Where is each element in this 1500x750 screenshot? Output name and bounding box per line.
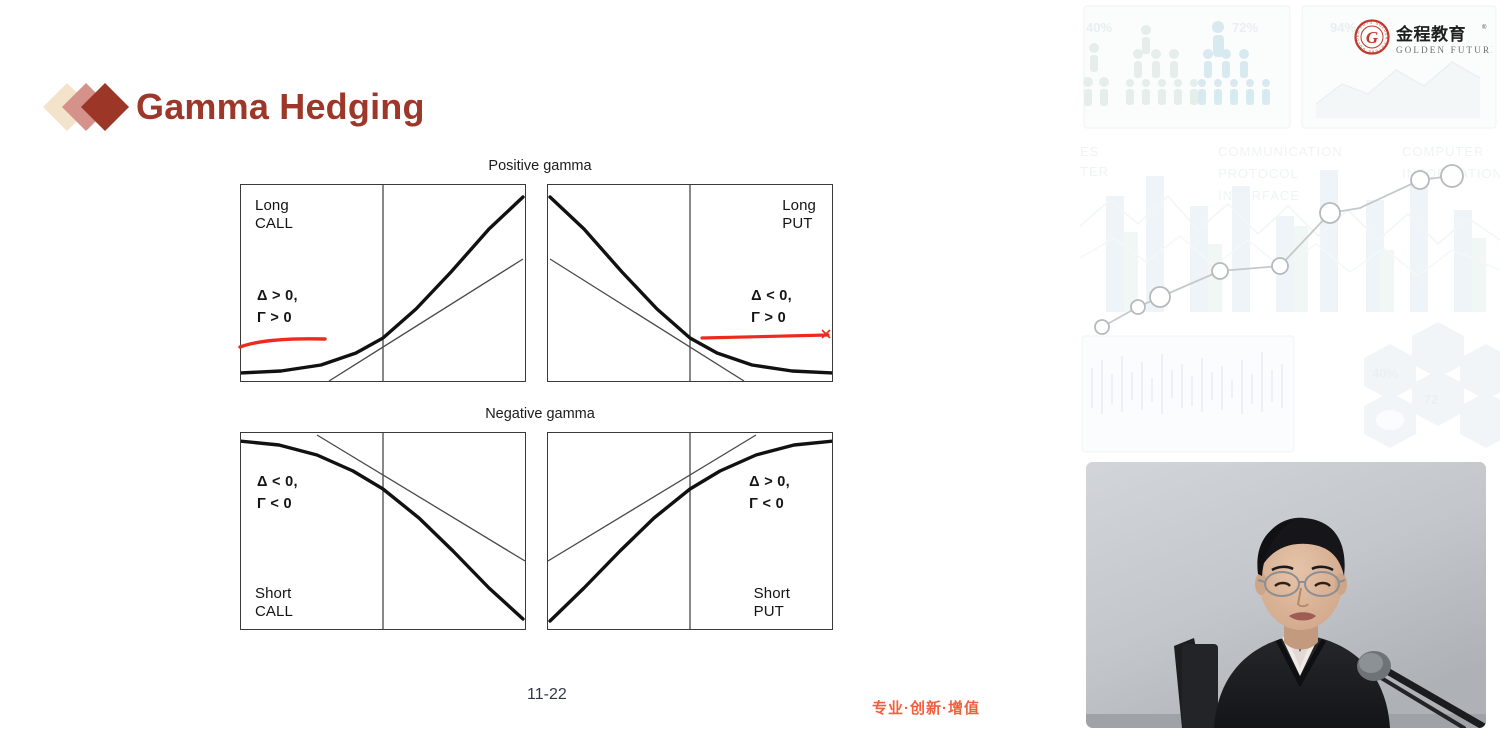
gamma-figure: Positive gamma Long CALL Δ > 0, Γ > 0 bbox=[240, 158, 840, 636]
slide-title-block: Gamma Hedging bbox=[50, 78, 425, 136]
red-annotation-underline-long-put bbox=[698, 327, 834, 345]
right-side-panel: 40% 72% 94% ES TER COMMUNICATION PROTOCO… bbox=[1080, 0, 1500, 750]
logo-seal-icon: G GOLDEN FUTURE GOLDEN FUTURE bbox=[1352, 16, 1389, 54]
svg-text:40%: 40% bbox=[1086, 20, 1112, 35]
panel-position-label-short-put: Short PUT bbox=[754, 585, 790, 622]
logo-english-name: GOLDEN FUTURE bbox=[1396, 45, 1492, 55]
panel-greeks-short-put: Δ > 0, Γ < 0 bbox=[749, 471, 790, 516]
row-caption-negative: Negative gamma bbox=[240, 406, 840, 422]
logo-chinese-name: 金程教育 bbox=[1395, 24, 1466, 45]
svg-text:PROTOCOL: PROTOCOL bbox=[1218, 166, 1299, 181]
title-diamond-decoration bbox=[50, 81, 128, 133]
panel-greeks-long-put: Δ < 0, Γ > 0 bbox=[751, 285, 792, 330]
page-number: 11-22 bbox=[527, 686, 567, 704]
slide-canvas: Gamma Hedging Positive gamma Long CALL Δ… bbox=[0, 0, 1080, 750]
panel-short-put: Δ > 0, Γ < 0 Short PUT bbox=[547, 432, 833, 630]
page-title: Gamma Hedging bbox=[136, 86, 425, 128]
svg-text:ES: ES bbox=[1080, 144, 1099, 159]
panel-long-put: Long PUT Δ < 0, Γ > 0 bbox=[547, 184, 833, 382]
svg-text:COMPUTER: COMPUTER bbox=[1402, 144, 1484, 159]
panel-short-call: Δ < 0, Γ < 0 Short CALL bbox=[240, 432, 526, 630]
brand-logo: G GOLDEN FUTURE GOLDEN FUTURE 金程教育 ® GOL… bbox=[1352, 16, 1492, 60]
panel-greeks-long-call: Δ > 0, Γ > 0 bbox=[257, 285, 298, 330]
panel-position-label-long-put: Long PUT bbox=[782, 197, 816, 234]
gamma-row-negative: Negative gamma Δ < 0, Γ < 0 Short CALL bbox=[240, 406, 840, 636]
svg-text:INTERFACE: INTERFACE bbox=[1218, 188, 1300, 203]
instructor-video-feed[interactable] bbox=[1086, 462, 1486, 728]
logo-registered-mark: ® bbox=[1482, 24, 1487, 31]
red-annotation-underline-long-call bbox=[237, 333, 329, 351]
panel-greeks-short-call: Δ < 0, Γ < 0 bbox=[257, 471, 298, 516]
panel-long-call: Long CALL Δ > 0, Γ > 0 bbox=[240, 184, 526, 382]
gamma-row-positive: Positive gamma Long CALL Δ > 0, Γ > 0 bbox=[240, 158, 840, 388]
brand-slogan: 专业·创新·增值 bbox=[872, 697, 980, 718]
row-caption-positive: Positive gamma bbox=[240, 158, 840, 174]
svg-text:72%: 72% bbox=[1232, 20, 1258, 35]
svg-text:72: 72 bbox=[1424, 392, 1438, 407]
panel-position-label-short-call: Short CALL bbox=[255, 585, 293, 622]
svg-text:G: G bbox=[1366, 28, 1379, 47]
svg-text:40%: 40% bbox=[1372, 366, 1398, 381]
panel-position-label-long-call: Long CALL bbox=[255, 197, 293, 234]
svg-text:COMMUNICATION: COMMUNICATION bbox=[1218, 144, 1343, 159]
svg-text:TER: TER bbox=[1080, 164, 1109, 179]
